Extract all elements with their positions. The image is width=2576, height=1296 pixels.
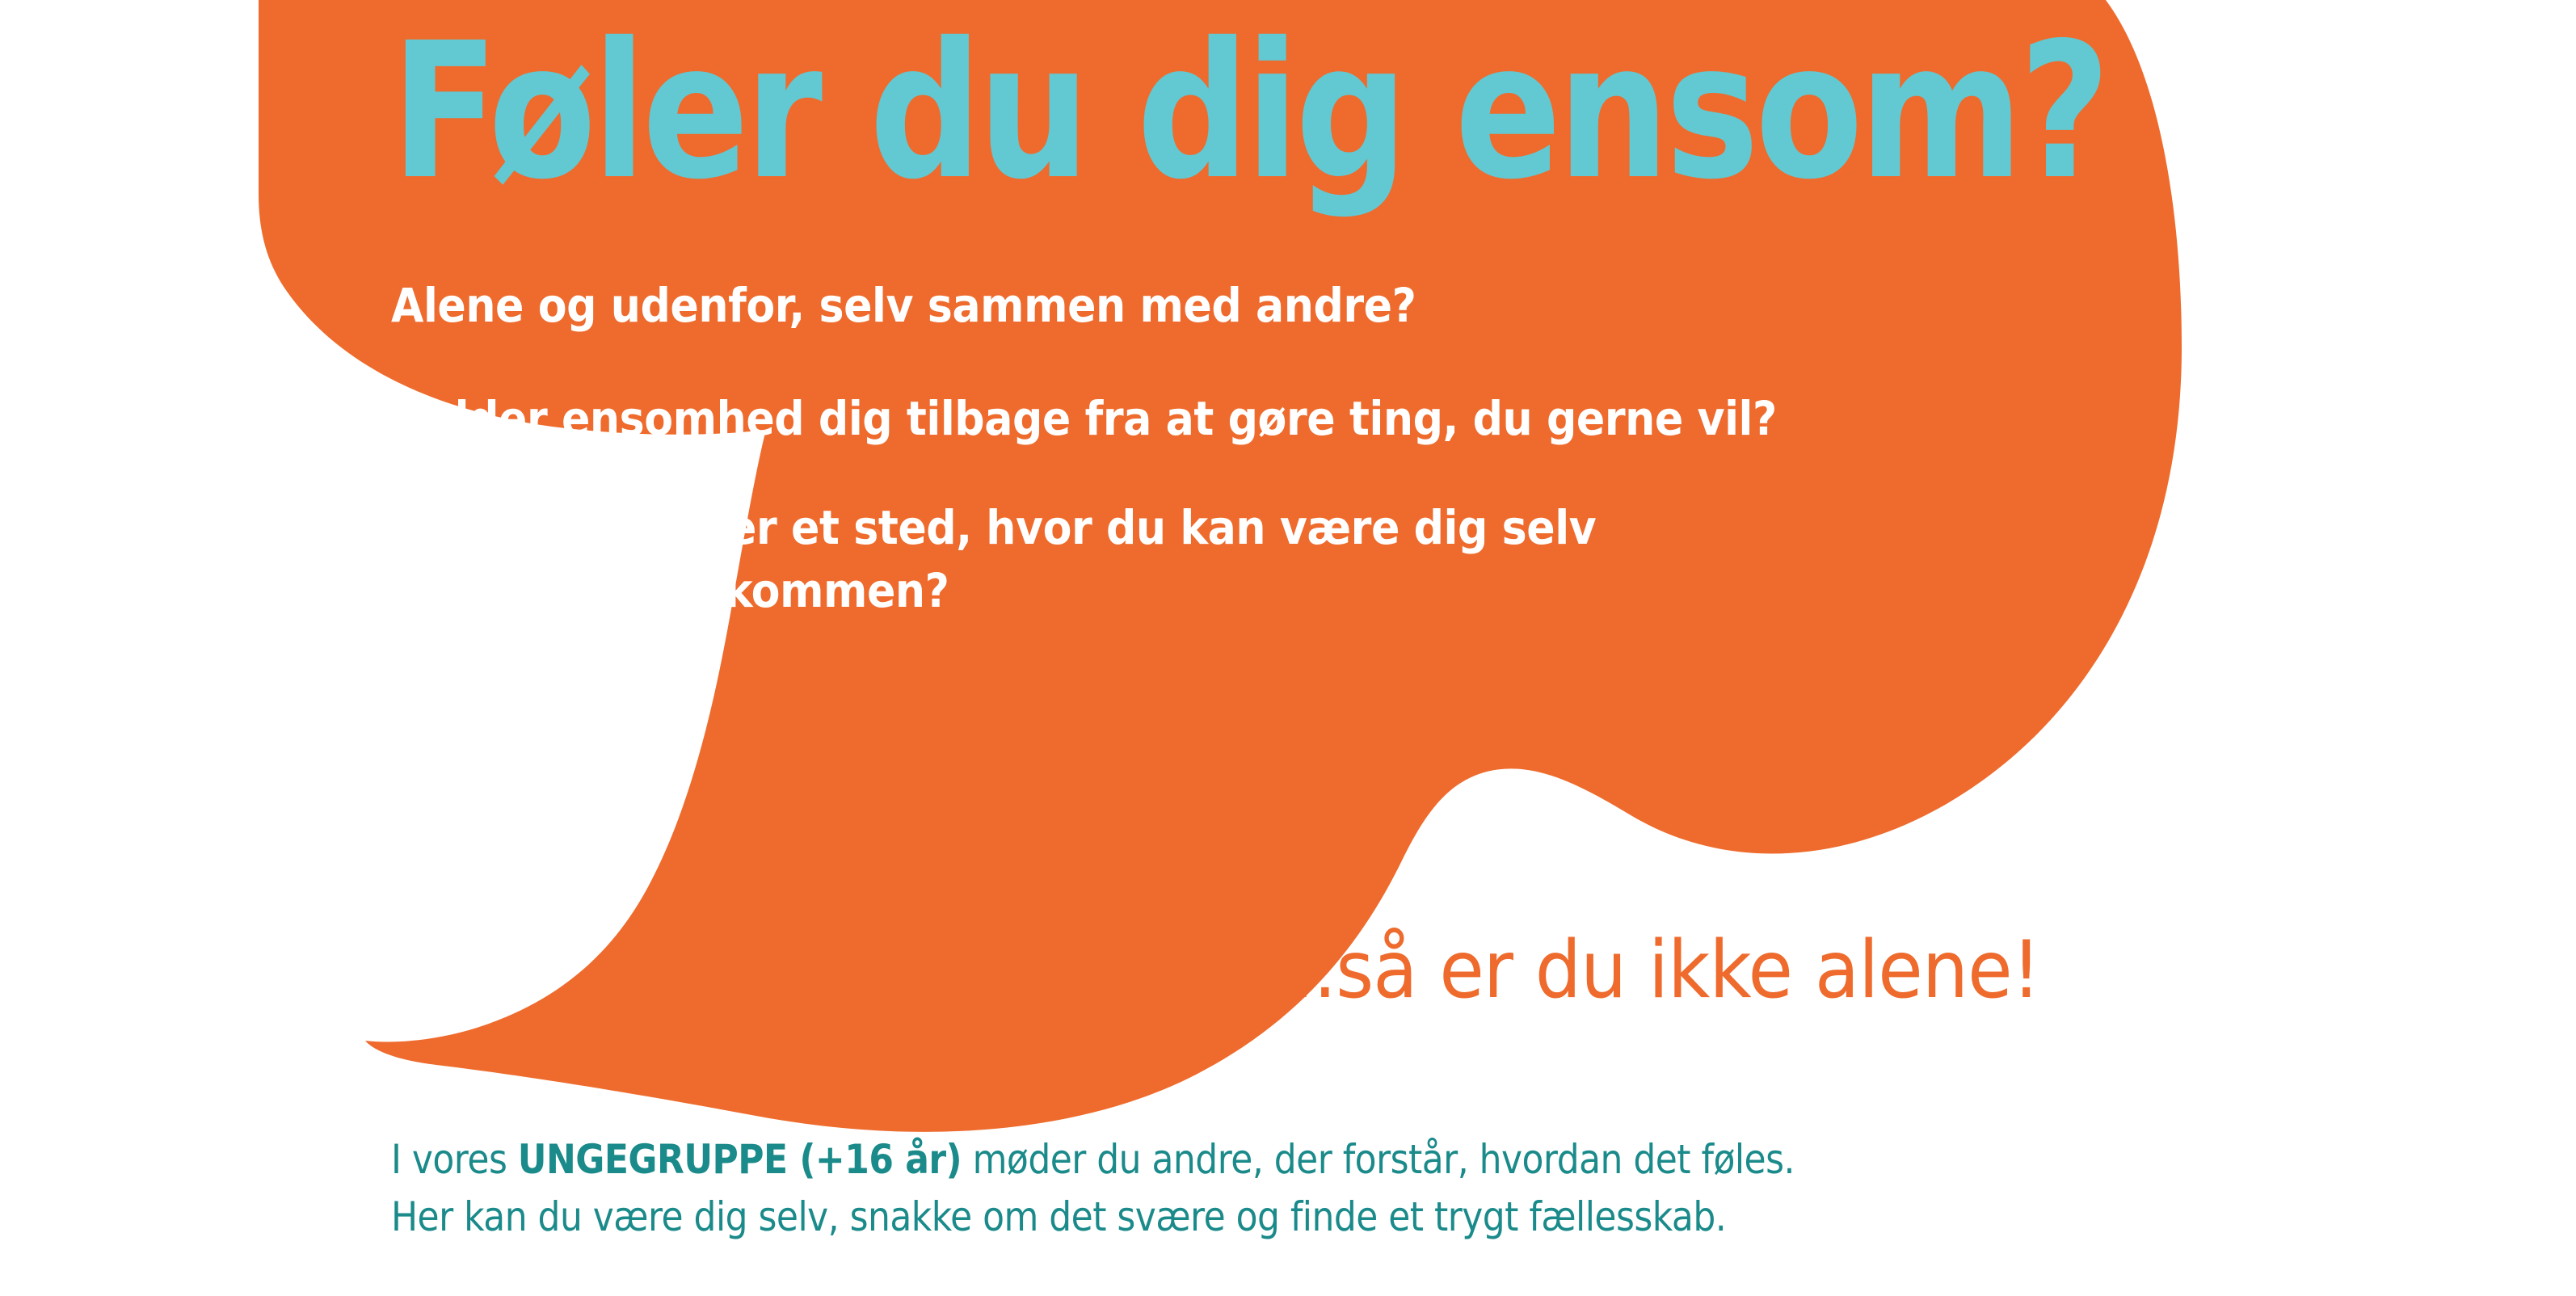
question-line-3: Længes du efter et sted, hvor du kan vær…	[391, 497, 1596, 622]
question-line-2: Holder ensomhed dig tilbage fra at gøre …	[391, 388, 1777, 451]
footnote-lead: I vores	[391, 1136, 518, 1183]
question-line-1: Alene og udenfor, selv sammen med andre?	[391, 275, 1416, 338]
footnote-paragraph: I vores UNGEGRUPPE (+16 år) møder du and…	[391, 1131, 1795, 1246]
page-title: Føler du dig ensom?	[391, 18, 2107, 205]
footnote-emphasis: UNGEGRUPPE (+16 år)	[518, 1136, 962, 1183]
poster-canvas: Føler du dig ensom? Alene og udenfor, se…	[0, 0, 2576, 1296]
tagline: ...så er du ikke alene!	[1269, 931, 2040, 1010]
